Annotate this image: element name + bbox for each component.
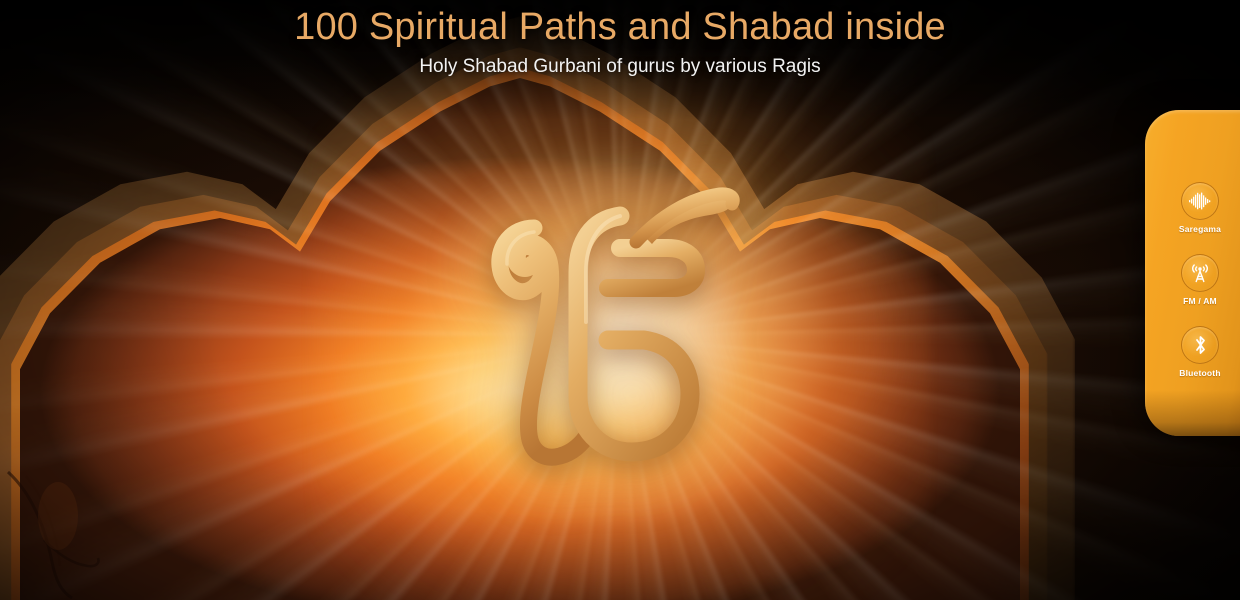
saregama-carvaan-panel: Saregama xyxy=(1145,110,1240,436)
radio-tower-icon xyxy=(1189,262,1211,284)
bluetooth-button-label: Bluetooth xyxy=(1145,368,1240,378)
device-button-bluetooth[interactable]: Bluetooth xyxy=(1145,326,1240,378)
ik-onkar-symbol xyxy=(468,176,768,486)
saregama-button-label: Saregama xyxy=(1145,224,1240,234)
hero-header: 100 Spiritual Paths and Shabad inside Ho… xyxy=(0,0,1240,80)
device-button-list: Saregama xyxy=(1145,182,1240,398)
waveform-icon xyxy=(1188,192,1212,210)
bluetooth-icon xyxy=(1193,334,1208,356)
hero-banner: 100 Spiritual Paths and Shabad inside Ho… xyxy=(0,0,1240,600)
hero-background xyxy=(0,0,1240,600)
saregama-button-circle[interactable] xyxy=(1181,182,1219,220)
fm-am-button-circle[interactable] xyxy=(1181,254,1219,292)
device-button-saregama[interactable]: Saregama xyxy=(1145,182,1240,234)
page-subtitle: Holy Shabad Gurbani of gurus by various … xyxy=(0,54,1240,80)
hanging-cord-icon xyxy=(0,470,190,600)
device-button-fm-am[interactable]: FM / AM xyxy=(1145,254,1240,306)
page-title: 100 Spiritual Paths and Shabad inside xyxy=(0,2,1240,52)
bluetooth-button-circle[interactable] xyxy=(1181,326,1219,364)
fm-am-button-label: FM / AM xyxy=(1145,296,1240,306)
